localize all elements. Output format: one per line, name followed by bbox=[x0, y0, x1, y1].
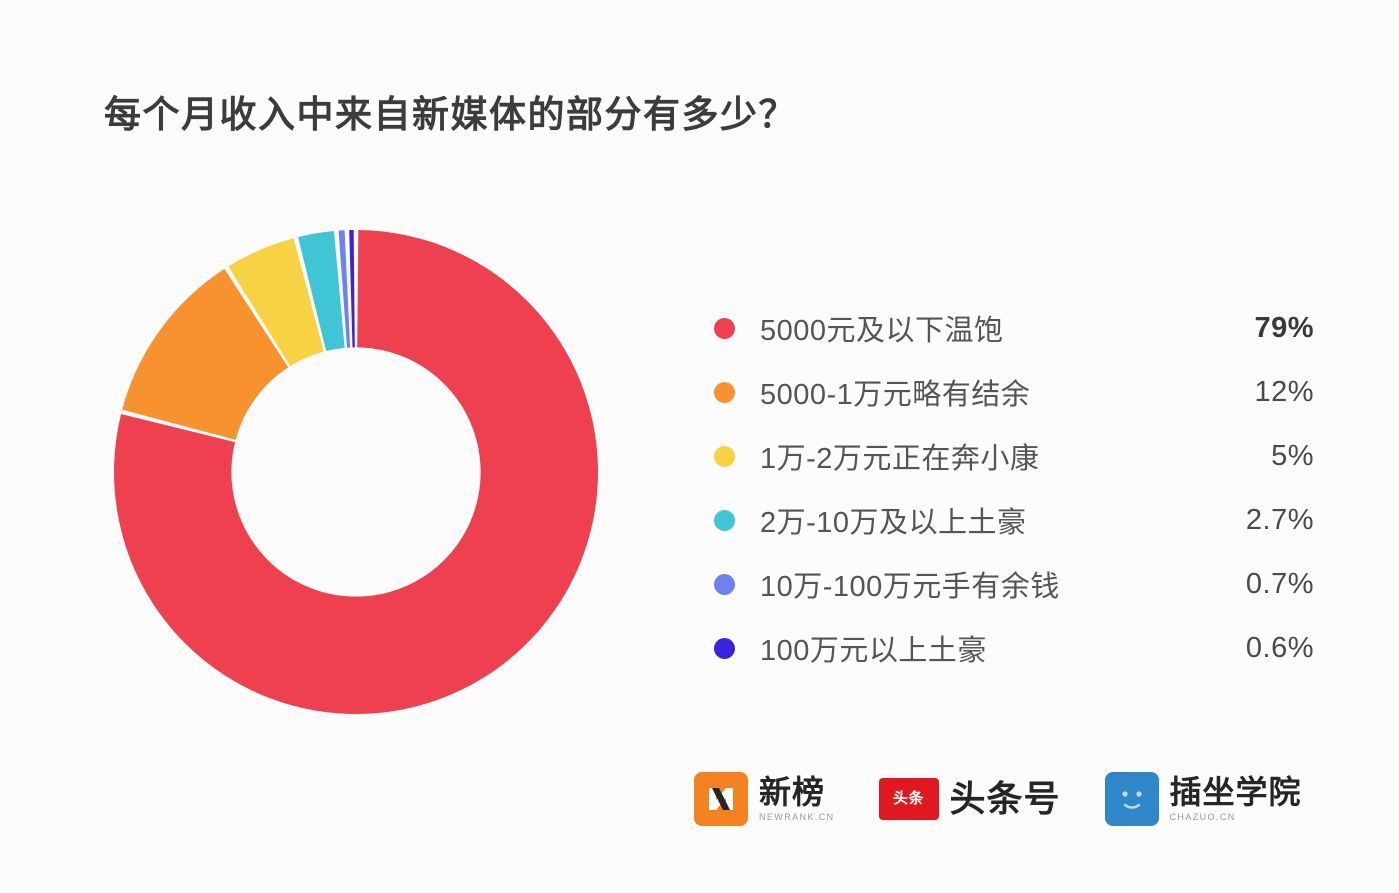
chart-canvas: 每个月收入中来自新媒体的部分有多少？ 5000元及以下温饱79%5000-1万元… bbox=[0, 0, 1399, 893]
legend-item[interactable]: 100万元以上土豪0.6% bbox=[714, 616, 1314, 680]
toutiao-name: 头条号 bbox=[950, 781, 1061, 817]
legend-item-value: 2.7% bbox=[1184, 504, 1314, 537]
logo-newrank: 新榜 NEWRANK.CN bbox=[694, 772, 835, 826]
toutiao-mark-label: 头条 bbox=[893, 791, 924, 807]
chazuo-name: 插坐学院 bbox=[1170, 776, 1302, 808]
chazuo-wordmark: 插坐学院 CHAZUO.CN bbox=[1170, 776, 1302, 822]
legend-color-swatch-icon bbox=[714, 382, 735, 403]
legend-item-label: 1万-2万元正在奔小康 bbox=[760, 435, 1184, 477]
legend-item-label: 10万-100万元手有余钱 bbox=[760, 563, 1184, 605]
newrank-name: 新榜 bbox=[759, 776, 835, 808]
legend-color-swatch-icon bbox=[714, 574, 735, 595]
legend-item-label: 100万元以上土豪 bbox=[760, 627, 1184, 669]
chazuo-face-glyph-icon bbox=[1112, 779, 1152, 819]
legend-item-label: 5000-1万元略有结余 bbox=[760, 371, 1184, 413]
legend-item[interactable]: 1万-2万元正在奔小康5% bbox=[714, 424, 1314, 488]
donut-slice-group bbox=[114, 230, 598, 714]
logo-toutiaohao: 头条 头条号 bbox=[879, 778, 1061, 820]
legend-color-swatch-icon bbox=[714, 638, 735, 659]
newrank-domain: NEWRANK.CN bbox=[759, 813, 835, 822]
legend-item-value: 79% bbox=[1184, 312, 1314, 345]
legend-item[interactable]: 2万-10万及以上土豪2.7% bbox=[714, 488, 1314, 552]
donut-chart bbox=[108, 224, 604, 720]
newrank-n-glyph-icon bbox=[703, 781, 739, 817]
legend-item-value: 0.6% bbox=[1184, 632, 1314, 665]
legend-item-label: 2万-10万及以上土豪 bbox=[760, 499, 1184, 541]
newrank-mark-icon bbox=[694, 772, 748, 826]
toutiao-wordmark: 头条号 bbox=[950, 781, 1061, 817]
footer-logo-bar: 新榜 NEWRANK.CN 头条 头条号 插坐学院 CHAZU bbox=[694, 772, 1302, 826]
legend-item-value: 12% bbox=[1184, 376, 1314, 409]
chazuo-mark-icon bbox=[1105, 772, 1159, 826]
legend-item[interactable]: 5000-1万元略有结余12% bbox=[714, 360, 1314, 424]
legend-item[interactable]: 10万-100万元手有余钱0.7% bbox=[714, 552, 1314, 616]
legend-color-swatch-icon bbox=[714, 510, 735, 531]
page-title: 每个月收入中来自新媒体的部分有多少？ bbox=[104, 84, 797, 138]
chart-legend: 5000元及以下温饱79%5000-1万元略有结余12%1万-2万元正在奔小康5… bbox=[714, 296, 1314, 680]
logo-chazuo: 插坐学院 CHAZUO.CN bbox=[1105, 772, 1302, 826]
legend-color-swatch-icon bbox=[714, 446, 735, 467]
newrank-wordmark: 新榜 NEWRANK.CN bbox=[759, 776, 835, 822]
legend-item[interactable]: 5000元及以下温饱79% bbox=[714, 296, 1314, 360]
chazuo-domain: CHAZUO.CN bbox=[1170, 813, 1302, 822]
toutiao-mark-icon: 头条 bbox=[879, 778, 939, 820]
donut-chart-svg bbox=[108, 224, 604, 720]
legend-item-label: 5000元及以下温饱 bbox=[760, 307, 1184, 349]
legend-color-swatch-icon bbox=[714, 318, 735, 339]
legend-item-value: 0.7% bbox=[1184, 568, 1314, 601]
legend-item-value: 5% bbox=[1184, 440, 1314, 473]
donut-slice[interactable] bbox=[349, 230, 355, 347]
